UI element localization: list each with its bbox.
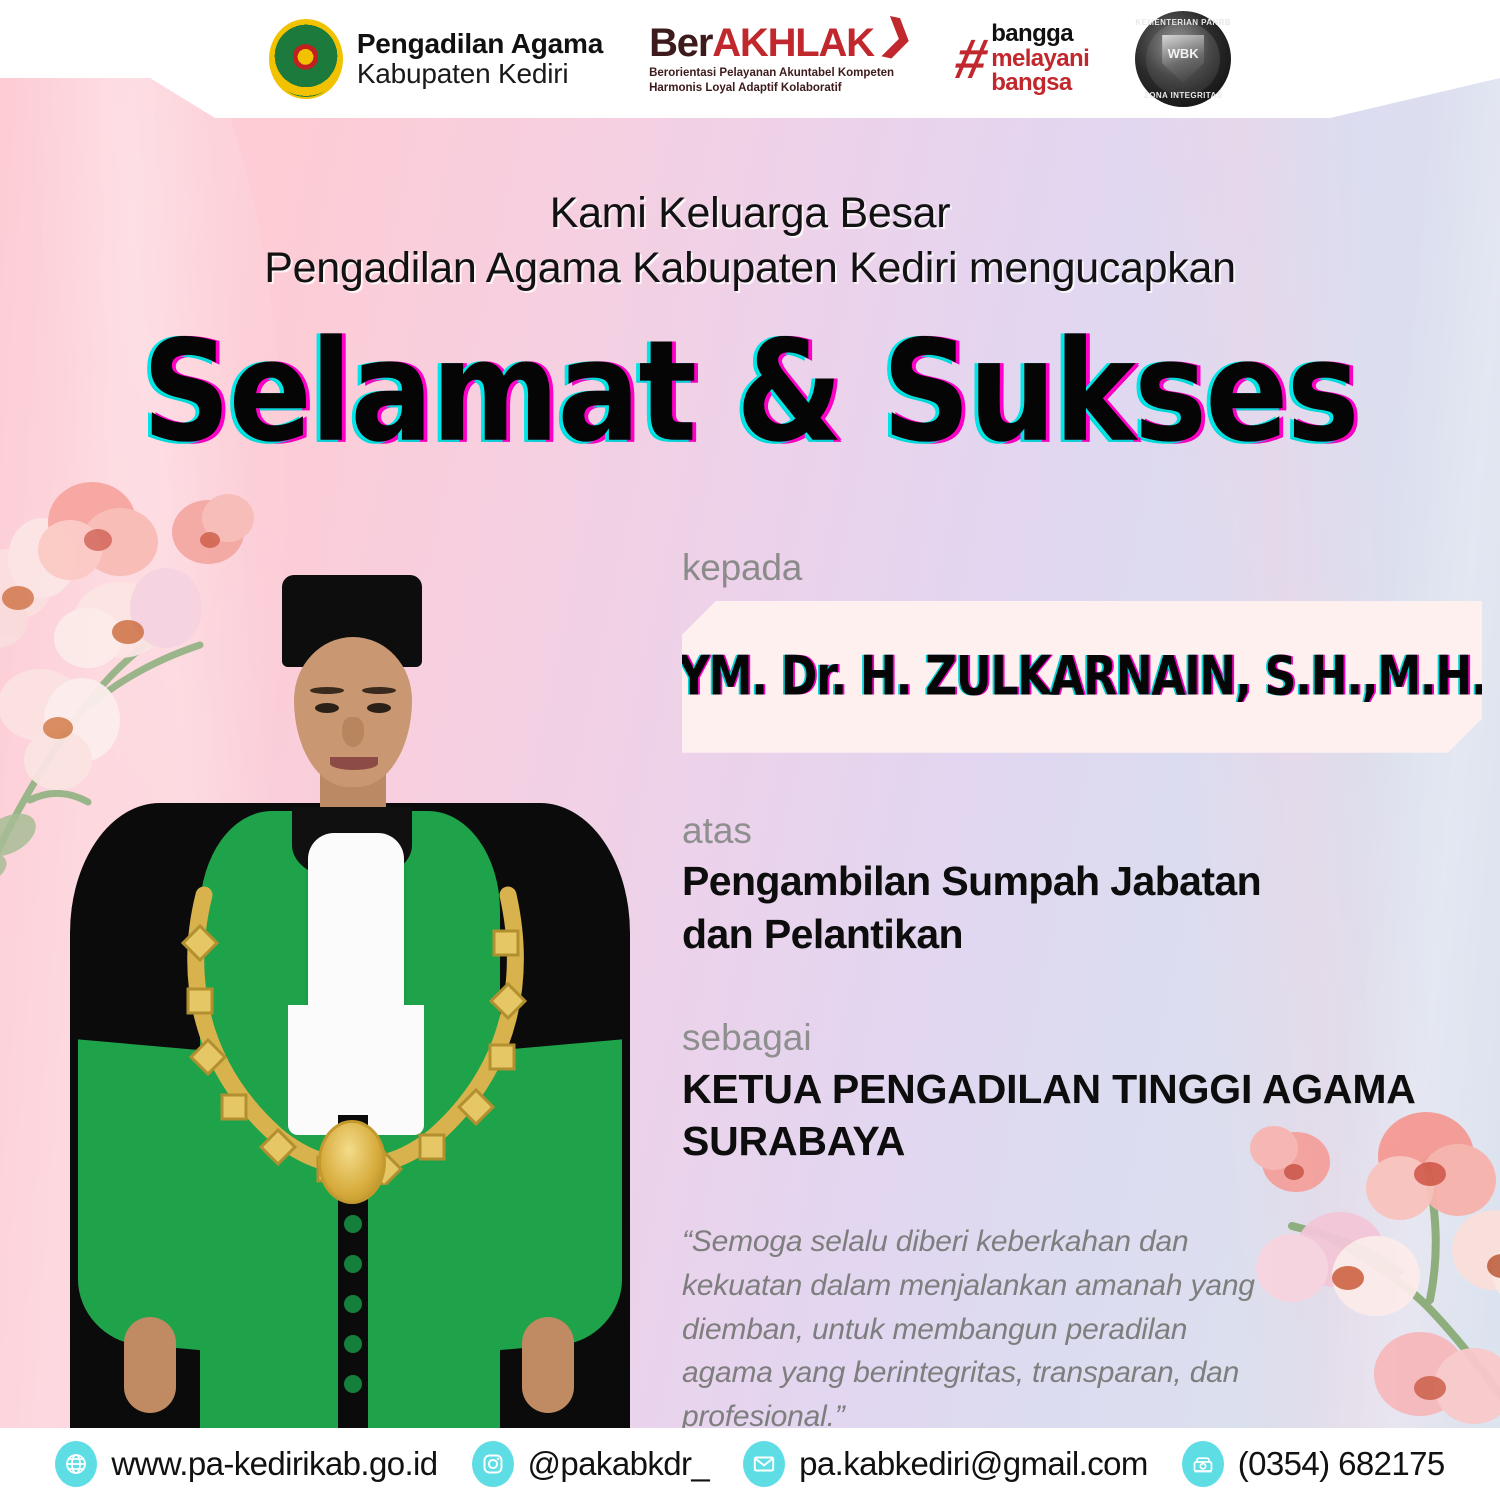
berakhlak-akhlak: AKHLAK: [712, 21, 874, 65]
recipient-label: kepada: [682, 548, 1482, 589]
greeting-line1: Kami Keluarga Besar: [0, 186, 1500, 241]
position-line2: SURABAYA: [682, 1115, 1482, 1167]
court-name-line1: Pengadilan Agama: [357, 29, 603, 59]
website-url: www.pa-kedirikab.go.id: [111, 1445, 437, 1483]
occasion-block: atas Pengambilan Sumpah Jabatan dan Pela…: [682, 811, 1482, 961]
telephone-icon: [1182, 1441, 1224, 1487]
berakhlak-wordmark: BerAKHLAK: [649, 23, 894, 63]
portrait-button: [344, 1375, 362, 1393]
bangga-melayani-bangsa-logo: # bangga melayani bangsa: [956, 22, 1089, 95]
bangga-word2: melayani: [991, 47, 1089, 71]
portrait-eye-left: [315, 703, 339, 713]
poster-canvas: Pengadilan Agama Kabupaten Kediri BerAKH…: [0, 0, 1500, 1500]
email-address: pa.kabkediri@gmail.com: [799, 1445, 1148, 1483]
portrait-button: [344, 1255, 362, 1273]
instagram-icon: [472, 1441, 514, 1487]
portrait-hand-right: [522, 1317, 574, 1413]
contact-instagram[interactable]: @pakabkdr_: [472, 1441, 710, 1487]
wbk-zona-integritas-icon: KEMENTERIAN PANRB WBK ZONA INTEGRITAS: [1135, 11, 1231, 107]
header-logo-bar: Pengadilan Agama Kabupaten Kediri BerAKH…: [0, 0, 1500, 118]
recipient-name-plate: YM. Dr. H. ZULKARNAIN, S.H.,M.H.: [682, 601, 1482, 753]
berakhlak-tagline-line2: Harmonis Loyal Adaptif Kolaboratif: [649, 81, 894, 95]
portrait-mouth: [330, 757, 378, 770]
position-block: sebagai KETUA PENGADILAN TINGGI AGAMA SU…: [682, 1018, 1482, 1168]
portrait-eye-right: [367, 703, 391, 713]
phone-number: (0354) 682175: [1238, 1445, 1445, 1483]
court-name: Pengadilan Agama Kabupaten Kediri: [357, 29, 603, 89]
contact-website[interactable]: www.pa-kedirikab.go.id: [55, 1441, 437, 1487]
position-line1: KETUA PENGADILAN TINGGI AGAMA: [682, 1063, 1482, 1115]
position-label: sebagai: [682, 1018, 1482, 1059]
portrait-brow-left: [310, 687, 344, 694]
wbk-shield: WBK: [1162, 35, 1204, 83]
contact-phone[interactable]: (0354) 682175: [1182, 1441, 1445, 1487]
hashtag-icon: #: [951, 37, 988, 82]
portrait-button: [344, 1215, 362, 1233]
occasion-label: atas: [682, 811, 1482, 852]
court-logo-lockup: Pengadilan Agama Kabupaten Kediri: [269, 19, 603, 99]
contact-email[interactable]: pa.kabkediri@gmail.com: [743, 1441, 1148, 1487]
bangga-word1: bangga: [991, 22, 1089, 46]
greeting-text: Kami Keluarga Besar Pengadilan Agama Kab…: [0, 186, 1500, 296]
portrait-medallion: [318, 1120, 386, 1204]
bangga-word3: bangsa: [991, 71, 1089, 95]
occasion-line2: dan Pelantikan: [682, 908, 1482, 960]
bangga-words: bangga melayani bangsa: [991, 22, 1089, 95]
greeting-line2: Pengadilan Agama Kabupaten Kediri menguc…: [0, 241, 1500, 296]
court-name-line2: Kabupaten Kediri: [357, 59, 603, 89]
portrait-nose: [342, 717, 364, 747]
portrait-hand-left: [124, 1317, 176, 1413]
instagram-handle: @pakabkdr_: [528, 1445, 710, 1483]
berakhlak-swoosh-icon: ❯: [876, 10, 918, 62]
blessing-quote: “Semoga selalu diberi keberkahan dan kek…: [682, 1220, 1262, 1439]
envelope-icon: [743, 1441, 785, 1487]
portrait-brow-right: [362, 687, 396, 694]
portrait-button: [344, 1335, 362, 1353]
wbk-ring-top: KEMENTERIAN PANRB: [1135, 18, 1231, 27]
contact-footer-bar: www.pa-kedirikab.go.id @pakabkdr_ pa.kab…: [0, 1428, 1500, 1500]
wbk-ring-bottom: ZONA INTEGRITAS: [1135, 91, 1231, 100]
berakhlak-ber: Ber: [649, 21, 712, 65]
headline-selamat-sukses: Selamat & Sukses: [53, 322, 1448, 462]
judge-portrait: [70, 575, 630, 1435]
occasion-line1: Pengambilan Sumpah Jabatan: [682, 855, 1482, 907]
berakhlak-logo: BerAKHLAK ❯ Berorientasi Pelayanan Akunt…: [649, 23, 910, 95]
details-column: kepada YM. Dr. H. ZULKARNAIN, S.H.,M.H. …: [682, 548, 1482, 1439]
court-seal-icon: [269, 19, 343, 99]
globe-icon: [55, 1441, 97, 1487]
portrait-button: [344, 1295, 362, 1313]
recipient-name: YM. Dr. H. ZULKARNAIN, S.H.,M.H.: [678, 645, 1487, 708]
berakhlak-tagline-line1: Berorientasi Pelayanan Akuntabel Kompete…: [649, 66, 894, 80]
